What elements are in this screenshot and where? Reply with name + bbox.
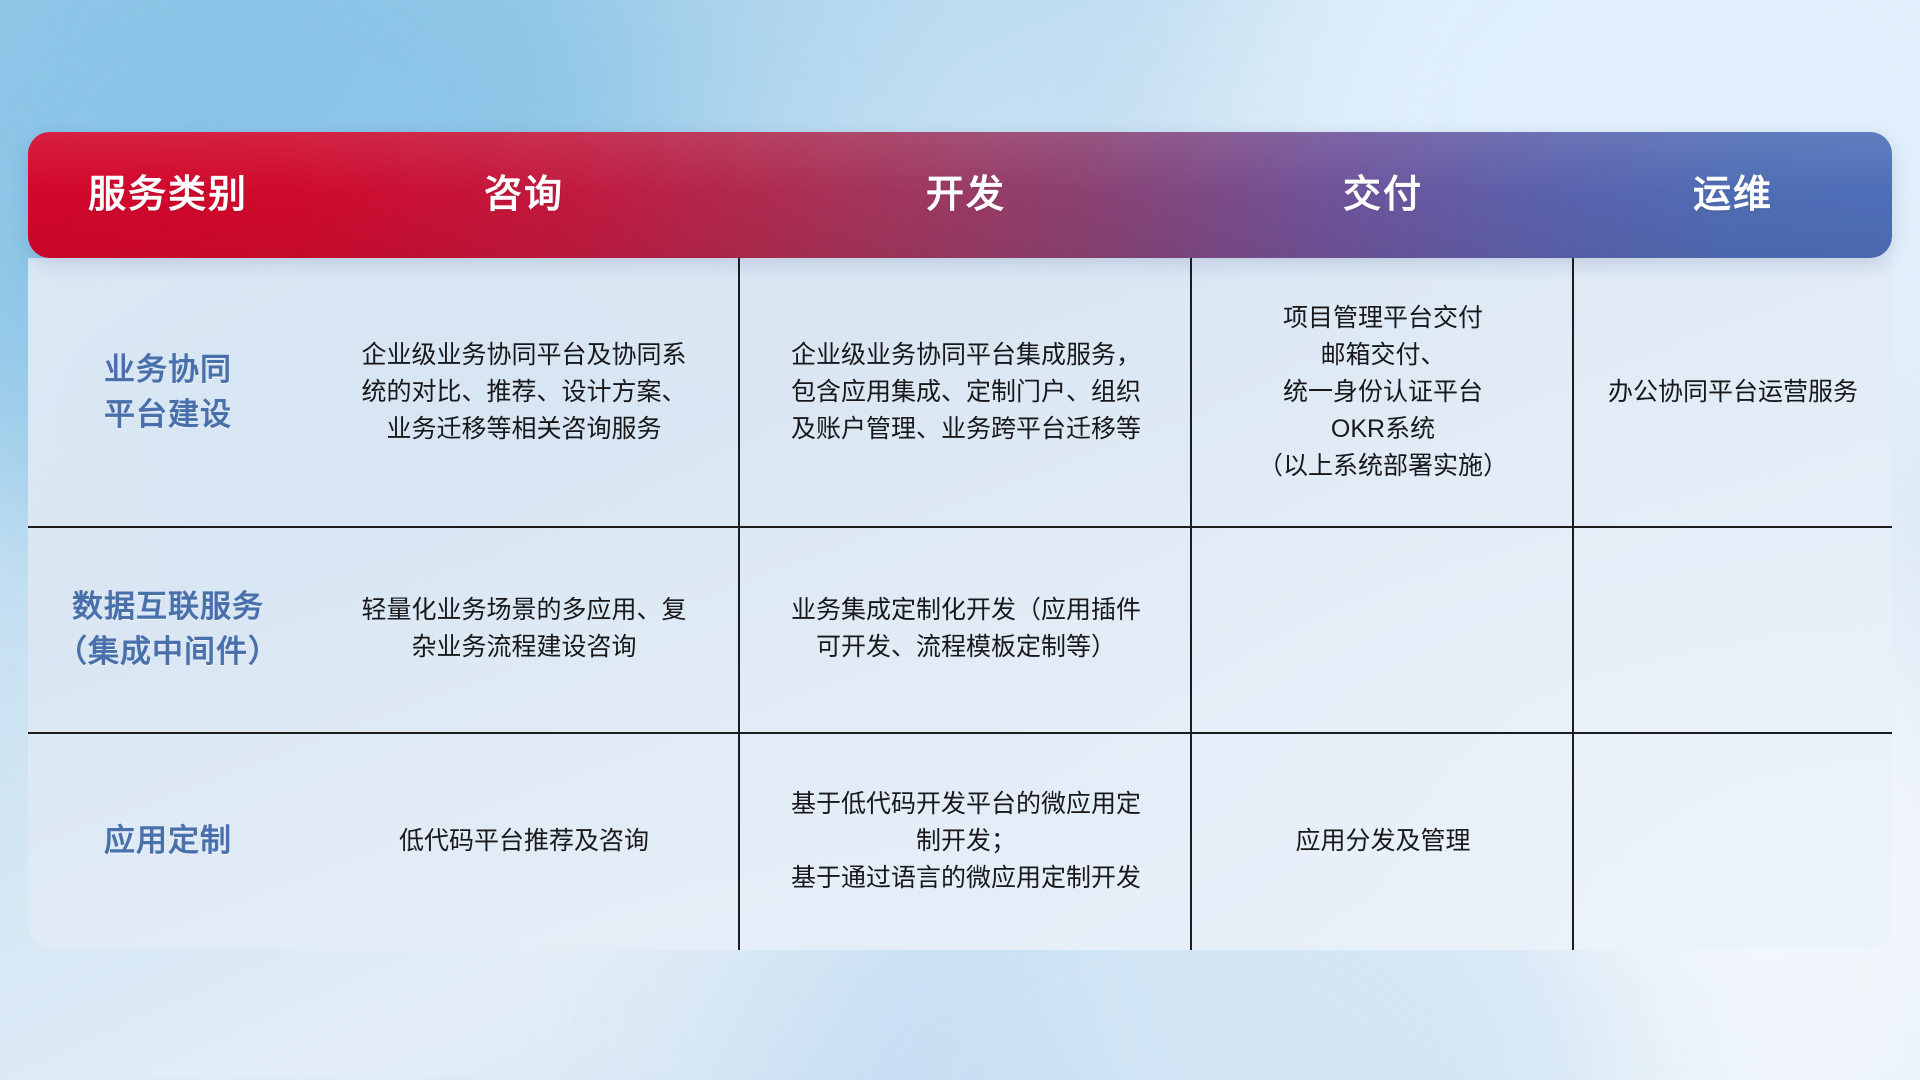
row-label-business-collaboration: 业务协同 平台建设: [28, 258, 308, 526]
cell-consulting-row1: 企业级业务协同平台及协同系 统的对比、推荐、设计方案、 业务迁移等相关咨询服务: [308, 258, 740, 526]
table-row: 数据互联服务 （集成中间件） 轻量化业务场景的多应用、复 杂业务流程建设咨询 业…: [28, 526, 1892, 732]
row-label-application-customization: 应用定制: [28, 732, 308, 950]
column-header-operations: 运维: [1574, 176, 1892, 214]
cell-consulting-row2: 轻量化业务场景的多应用、复 杂业务流程建设咨询: [308, 526, 740, 732]
table-row: 业务协同 平台建设 企业级业务协同平台及协同系 统的对比、推荐、设计方案、 业务…: [28, 258, 1892, 526]
cell-delivery-row3: 应用分发及管理: [1192, 732, 1574, 950]
column-header-category: 服务类别: [28, 176, 308, 214]
cell-operations-row3: [1574, 732, 1892, 950]
cell-development-row2: 业务集成定制化开发（应用插件 可开发、流程模板定制等）: [740, 526, 1192, 732]
cell-development-row3: 基于低代码开发平台的微应用定 制开发； 基于通过语言的微应用定制开发: [740, 732, 1192, 950]
table-header-row: 服务类别 咨询 开发 交付 运维: [28, 132, 1892, 258]
column-header-development: 开发: [740, 176, 1192, 214]
service-category-table: 服务类别 咨询 开发 交付 运维 业务协同 平台建设 企业级业务协同平台及协同系…: [28, 132, 1892, 950]
table-row: 应用定制 低代码平台推荐及咨询 基于低代码开发平台的微应用定 制开发； 基于通过…: [28, 732, 1892, 950]
column-header-delivery: 交付: [1192, 176, 1574, 214]
cell-operations-row2: [1574, 526, 1892, 732]
cell-operations-row1: 办公协同平台运营服务: [1574, 258, 1892, 526]
table-body: 业务协同 平台建设 企业级业务协同平台及协同系 统的对比、推荐、设计方案、 业务…: [28, 258, 1892, 950]
cell-delivery-row1: 项目管理平台交付 邮箱交付、 统一身份认证平台 OKR系统 （以上系统部署实施）: [1192, 258, 1574, 526]
row-label-data-interconnection: 数据互联服务 （集成中间件）: [28, 526, 308, 732]
cell-consulting-row3: 低代码平台推荐及咨询: [308, 732, 740, 950]
cell-development-row1: 企业级业务协同平台集成服务， 包含应用集成、定制门户、组织 及账户管理、业务跨平…: [740, 258, 1192, 526]
column-header-consulting: 咨询: [308, 176, 740, 214]
cell-delivery-row2: [1192, 526, 1574, 732]
